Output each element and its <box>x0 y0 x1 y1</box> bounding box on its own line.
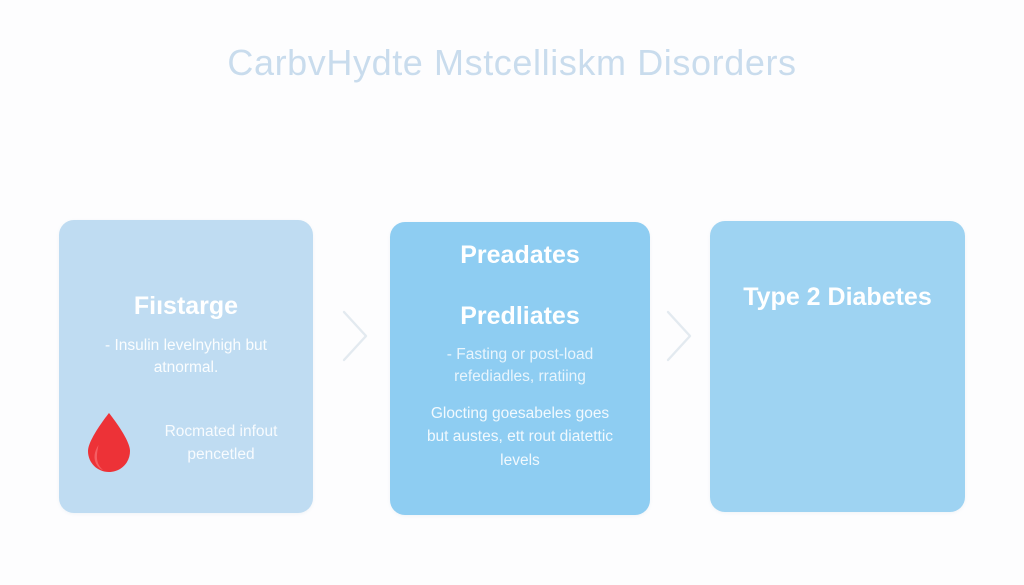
card-heading-secondary-stage-2: Predliates <box>446 300 594 333</box>
flow-card-stage-1[interactable]: Fiıstarge - Insulin levelnyhigh but atno… <box>59 220 313 513</box>
icon-note-row-stage-1: Rocmated infout pencetled <box>85 412 299 474</box>
card-subtitle-stage-1: - Insulin levelnyhigh but atnormal. <box>59 335 313 380</box>
process-flow: Fiıstarge - Insulin levelnyhigh but atno… <box>0 220 1024 520</box>
page-title: CarbvHydte Mstcelliskm Disorders <box>0 42 1024 84</box>
chevron-right-icon <box>662 308 696 364</box>
diagram-canvas: CarbvHydte Mstcelliskm Disorders Fiıstar… <box>0 0 1024 585</box>
card-heading-stage-3: Type 2 Diabetes <box>729 281 946 314</box>
card-heading-stage-2: Preadates <box>446 239 594 272</box>
card-note-stage-1: Rocmated infout pencetled <box>143 420 299 467</box>
flow-card-stage-3[interactable]: Type 2 Diabetes <box>710 221 965 512</box>
card-note-stage-2: Glocting goesabeles goes but austes, ett… <box>402 402 638 472</box>
card-note-block-stage-2: Glocting goesabeles goes but austes, ett… <box>402 402 638 472</box>
card-subtitle-stage-2: - Fasting or post-load refediadles, rrat… <box>390 344 650 389</box>
chevron-right-icon <box>338 308 372 364</box>
card-heading-stage-1: Fiıstarge <box>120 290 252 323</box>
blood-drop-icon <box>85 412 133 474</box>
flow-card-stage-2[interactable]: Preadates Predliates - Fasting or post-l… <box>390 222 650 515</box>
